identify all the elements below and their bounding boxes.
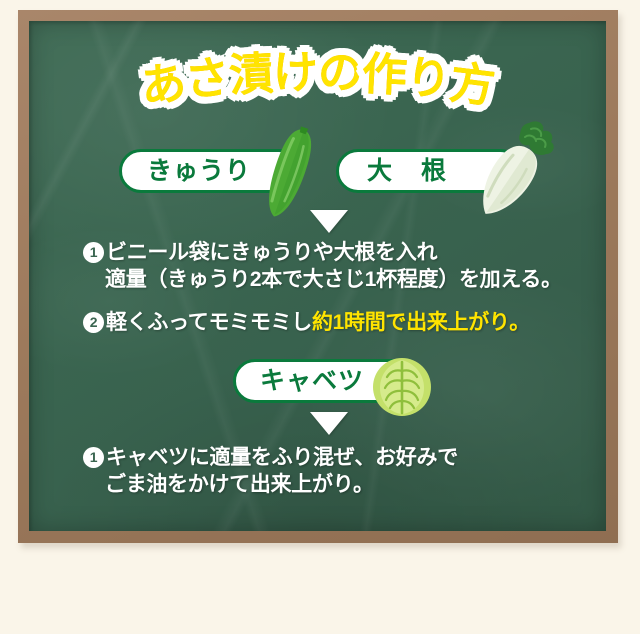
ingredient-pill-cucumber-label: きゅうり <box>147 159 273 184</box>
page-title: あさ漬けの作り方 <box>29 55 606 133</box>
step-text: ビニール袋にきゅうりや大根を入れ <box>106 241 437 264</box>
ingredient-pill-cabbage: キャベツ <box>233 359 423 403</box>
title-char: さ <box>184 54 232 103</box>
chalkboard-wooden-frame: あさ漬けの作り方 きゅうり <box>18 10 618 543</box>
recipe-step-3-line-1: 1キャベツに適量をふり混ぜ、お好みで <box>83 445 458 472</box>
step-number-badge: 1 <box>83 447 104 468</box>
ingredient-pill-cabbage-label: キャベツ <box>260 369 396 394</box>
step-text: ごま油をかけて出来上がり。 <box>105 473 374 496</box>
step-text: 軽くふってモミモミし <box>106 311 312 334</box>
title-char: あ <box>139 59 188 109</box>
recipe-step-2: 2軽くふってモミモミし約1時間で出来上がり。 <box>83 310 530 337</box>
ingredient-pill-daikon-label: 大 根 <box>367 159 491 184</box>
recipe-step-2-line-1: 2軽くふってモミモミし約1時間で出来上がり。 <box>83 310 530 337</box>
chalkboard-surface: あさ漬けの作り方 きゅうり <box>29 21 606 531</box>
page-title-text: あさ漬けの作り方 <box>141 55 493 100</box>
step-number-badge: 1 <box>83 242 104 263</box>
recipe-step-1-line-1: 1ビニール袋にきゅうりや大根を入れ <box>83 240 562 267</box>
recipe-step-3-line-2: ごま油をかけて出来上がり。 <box>83 472 458 499</box>
arrow-down-icon <box>310 412 348 435</box>
ingredient-pill-daikon: 大 根 <box>336 149 522 193</box>
recipe-step-1-line-2: 適量（きゅうり2本で大さじ1杯程度）を加える。 <box>83 267 562 294</box>
step-text-highlight: 約1時間で出来上がり。 <box>312 311 530 334</box>
title-char: 作 <box>360 51 406 98</box>
title-char: の <box>317 50 362 96</box>
title-char: 方 <box>447 59 496 109</box>
title-char: 漬 <box>228 51 274 98</box>
recipe-step-1: 1ビニール袋にきゅうりや大根を入れ 適量（きゅうり2本で大さじ1杯程度）を加える… <box>83 240 562 294</box>
step-text: 適量（きゅうり2本で大さじ1杯程度）を加える。 <box>105 268 562 291</box>
title-char: り <box>404 54 452 103</box>
title-char: け <box>273 50 318 96</box>
recipe-step-3: 1キャベツに適量をふり混ぜ、お好みで ごま油をかけて出来上がり。 <box>83 445 458 499</box>
arrow-down-icon <box>310 210 348 233</box>
step-text: キャベツに適量をふり混ぜ、お好みで <box>106 446 458 469</box>
ingredient-pill-cucumber: きゅうり <box>119 149 301 193</box>
step-number-badge: 2 <box>83 312 104 333</box>
